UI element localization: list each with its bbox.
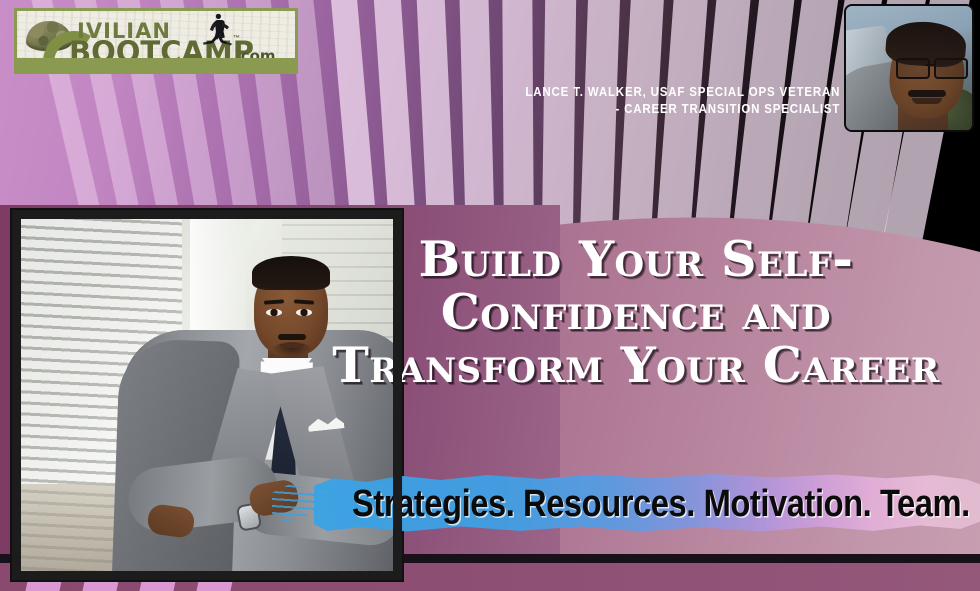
civilian-bootcamp-logo[interactable]: IVILIAN BOOTCAMP ™ .com bbox=[14, 8, 298, 74]
headline-line-3: Transform Your Career bbox=[300, 342, 972, 389]
headline-line-1: Build Your Self- bbox=[300, 236, 972, 283]
headshot-moustache bbox=[908, 90, 946, 97]
subtitle-text: Strategies. Resources. Motivation. Team. bbox=[352, 483, 885, 526]
credit-line-1: LANCE T. WALKER, USAF SPECIAL OPS VETERA… bbox=[525, 84, 840, 101]
credit-line-2: - CAREER TRANSITION SPECIALIST bbox=[525, 101, 840, 118]
logo-footer-bar bbox=[17, 58, 295, 71]
headline-line-2: Confidence and bbox=[300, 289, 972, 336]
webinar-banner: IVILIAN BOOTCAMP ™ .com LANCE T. WALKER,… bbox=[0, 0, 980, 591]
speaker-headshot bbox=[846, 6, 972, 130]
headshot-glasses bbox=[896, 58, 968, 75]
headshot-mouth bbox=[912, 98, 942, 104]
speaker-credit: LANCE T. WALKER, USAF SPECIAL OPS VETERA… bbox=[525, 84, 840, 118]
page-title: Build Your Self- Confidence and Transfor… bbox=[300, 236, 972, 389]
running-businessman-icon bbox=[202, 13, 236, 47]
